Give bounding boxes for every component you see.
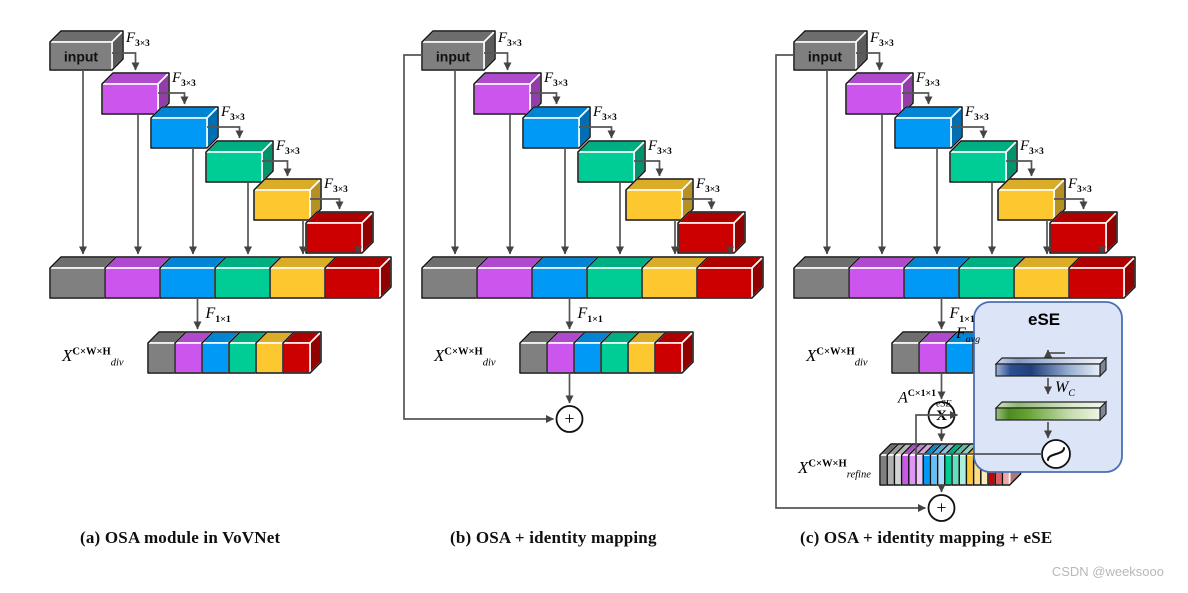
panel-c-channel-weight-vector-front[interactable] <box>996 408 1100 420</box>
panel-a-concat-seg-3-front <box>160 268 215 298</box>
panel-a-conv-label-1: F3×3 <box>126 31 150 49</box>
panel-a-xdiv-cube-3-front <box>202 343 229 373</box>
panel-a-conv-label-3: F3×3 <box>221 105 245 123</box>
panel-a-input-box-top <box>50 31 123 42</box>
panel-c-refine-slice-6-front <box>916 455 923 485</box>
panel-c-refine-slice-9-front <box>938 455 945 485</box>
panel-a-concat-seg-1-front <box>50 268 105 298</box>
panel-a-conv-label-4: F3×3 <box>276 139 300 157</box>
panel-c-conv-box-2-front <box>895 118 951 148</box>
panel-c-xdiv-cube-1-front <box>892 343 919 373</box>
panel-b-sum-node-glyph: + <box>564 409 574 429</box>
panel-c-concat-seg-3-front <box>904 268 959 298</box>
panel-c-concat-seg-2-front <box>849 268 904 298</box>
panel-c-channel-weight-vector-top <box>996 402 1106 408</box>
panel-c-refine-slice-12-front <box>959 455 966 485</box>
panel-c-global-avg-pool-vector-top <box>996 358 1106 364</box>
panel-a-xdiv-label: XC×W×Hdiv <box>62 347 124 369</box>
panel-b-xdiv-cube-3-front <box>574 343 601 373</box>
panel-a-concat-seg-4-front <box>215 268 270 298</box>
panel-b-conv-label-3: F3×3 <box>593 105 617 123</box>
panel-c-concat-seg-6-front <box>1069 268 1124 298</box>
panel-a-conv-box-1-front <box>102 84 158 114</box>
panel-c-xdiv-cube-2-front <box>919 343 946 373</box>
panel-c-concat-seg-4-front <box>959 268 1014 298</box>
panel-b-conv-label-4: F3×3 <box>648 139 672 157</box>
panel-a-concat-seg-2-front <box>105 268 160 298</box>
panel-b-xdiv-cube-2-front <box>547 343 574 373</box>
panel-b-proj-label: F1×1 <box>578 306 603 325</box>
panel-b-conv-box-4-front <box>626 190 682 220</box>
panel-b-xdiv-cube-5-front <box>628 343 655 373</box>
panel-c-refine-slice-8-front <box>930 455 937 485</box>
panel-b-concat-seg-2-front <box>477 268 532 298</box>
panel-b-xdiv-cube-6-front <box>655 343 682 373</box>
panel-c-caption: (c) OSA + identity mapping + eSE <box>800 528 1052 548</box>
panel-c-xdiv-cube-3-front <box>946 343 973 373</box>
panel-a-xdiv-cube-2-front <box>175 343 202 373</box>
panel-a-conv-label-5: F3×3 <box>324 177 348 195</box>
panel-c-attention-label: AC×1×1eSE <box>898 389 952 409</box>
panel-c-conv-box-1-front <box>846 84 902 114</box>
panel-b-concat-seg-1-front <box>422 268 477 298</box>
panel-c-proj-label: F1×1 <box>950 306 975 325</box>
panel-a-conv-box-4-front <box>254 190 310 220</box>
panel-c-refine-slice-4-front <box>902 455 909 485</box>
panel-c-xrefine-label: XC×W×Hrefine <box>798 459 871 481</box>
panel-a-concat-seg-6-front <box>325 268 380 298</box>
panel-c-refine-slice-7-front <box>923 455 930 485</box>
panel-b-conv-box-2-front <box>523 118 579 148</box>
panel-a-concat-seg-5-front <box>270 268 325 298</box>
panel-c-mul-node-glyph: X <box>936 408 947 424</box>
panel-a-conv-label-2: F3×3 <box>172 71 196 89</box>
panel-c-refine-slice-10-front <box>945 455 952 485</box>
panel-c-xdiv-label: XC×W×Hdiv <box>806 347 868 369</box>
panel-b-input-label: input <box>436 49 471 65</box>
panel-a-xdiv-cube-1-front <box>148 343 175 373</box>
panel-c-conv-label-1: F3×3 <box>870 31 894 49</box>
panel-a-input-label: input <box>64 49 99 65</box>
panel-c-conv-box-3-front <box>950 152 1006 182</box>
panel-c-concat-seg-1-front <box>794 268 849 298</box>
panel-c-sum-node-glyph: + <box>936 498 946 518</box>
figure-canvas: inputinput+input+X (a) OSA module in VoV… <box>0 0 1188 593</box>
panel-c-refine-slice-13-front <box>966 455 973 485</box>
panel-c-wc-label: WC <box>1055 380 1075 399</box>
panel-c-refine-slice-2-front <box>887 455 894 485</box>
panel-b-input-box-top <box>422 31 495 42</box>
panel-b-caption: (b) OSA + identity mapping <box>450 528 657 548</box>
panel-c-refine-slice-3-front <box>894 455 901 485</box>
panel-c-conv-label-4: F3×3 <box>1020 139 1044 157</box>
panel-a-conv-box-3-front <box>206 152 262 182</box>
panel-b-concat-seg-3-front <box>532 268 587 298</box>
panel-a-conv-box-5-front <box>306 223 362 253</box>
panel-c-refine-slice-5-front <box>909 455 916 485</box>
panel-b-concat-seg-4-front <box>587 268 642 298</box>
panel-c-concat-seg-5-front <box>1014 268 1069 298</box>
panel-b-conv-label-1: F3×3 <box>498 31 522 49</box>
panel-c-conv-label-2: F3×3 <box>916 71 940 89</box>
panel-c-refine-slice-11-front <box>952 455 959 485</box>
panel-c-conv-box-5-front <box>1050 223 1106 253</box>
panel-c-refine-slice-1-front <box>880 455 887 485</box>
panel-c-global-avg-pool-vector-front[interactable] <box>996 364 1100 376</box>
panel-c-conv-box-4-front <box>998 190 1054 220</box>
panel-a-xdiv-cube-5-front <box>256 343 283 373</box>
panel-b-conv-label-5: F3×3 <box>696 177 720 195</box>
panel-b-conv-box-5-front <box>678 223 734 253</box>
panel-c-input-box-top <box>794 31 867 42</box>
panel-c-conv-label-3: F3×3 <box>965 105 989 123</box>
panel-a-xdiv-cube-6-front <box>283 343 310 373</box>
panel-b-conv-box-3-front <box>578 152 634 182</box>
panel-c-input-label: input <box>808 49 843 65</box>
panel-a-conv-box-2-front <box>151 118 207 148</box>
panel-b-xdiv-cube-4-front <box>601 343 628 373</box>
panel-b-concat-seg-6-front <box>697 268 752 298</box>
panel-c-conv-label-5: F3×3 <box>1068 177 1092 195</box>
panel-a-xdiv-cube-4-front <box>229 343 256 373</box>
ese-module-title: eSE <box>1028 310 1060 330</box>
panel-b-conv-label-2: F3×3 <box>544 71 568 89</box>
panel-b-xdiv-label: XC×W×Hdiv <box>434 347 496 369</box>
watermark: CSDN @weeksooo <box>1052 564 1164 579</box>
panel-b-xdiv-cube-1-front <box>520 343 547 373</box>
panel-a-caption: (a) OSA module in VoVNet <box>80 528 280 548</box>
panel-c-favg-label: Favg <box>956 326 980 345</box>
panel-b-conv-box-1-front <box>474 84 530 114</box>
panel-a-proj-label: F1×1 <box>206 306 231 325</box>
panel-b-concat-seg-5-front <box>642 268 697 298</box>
